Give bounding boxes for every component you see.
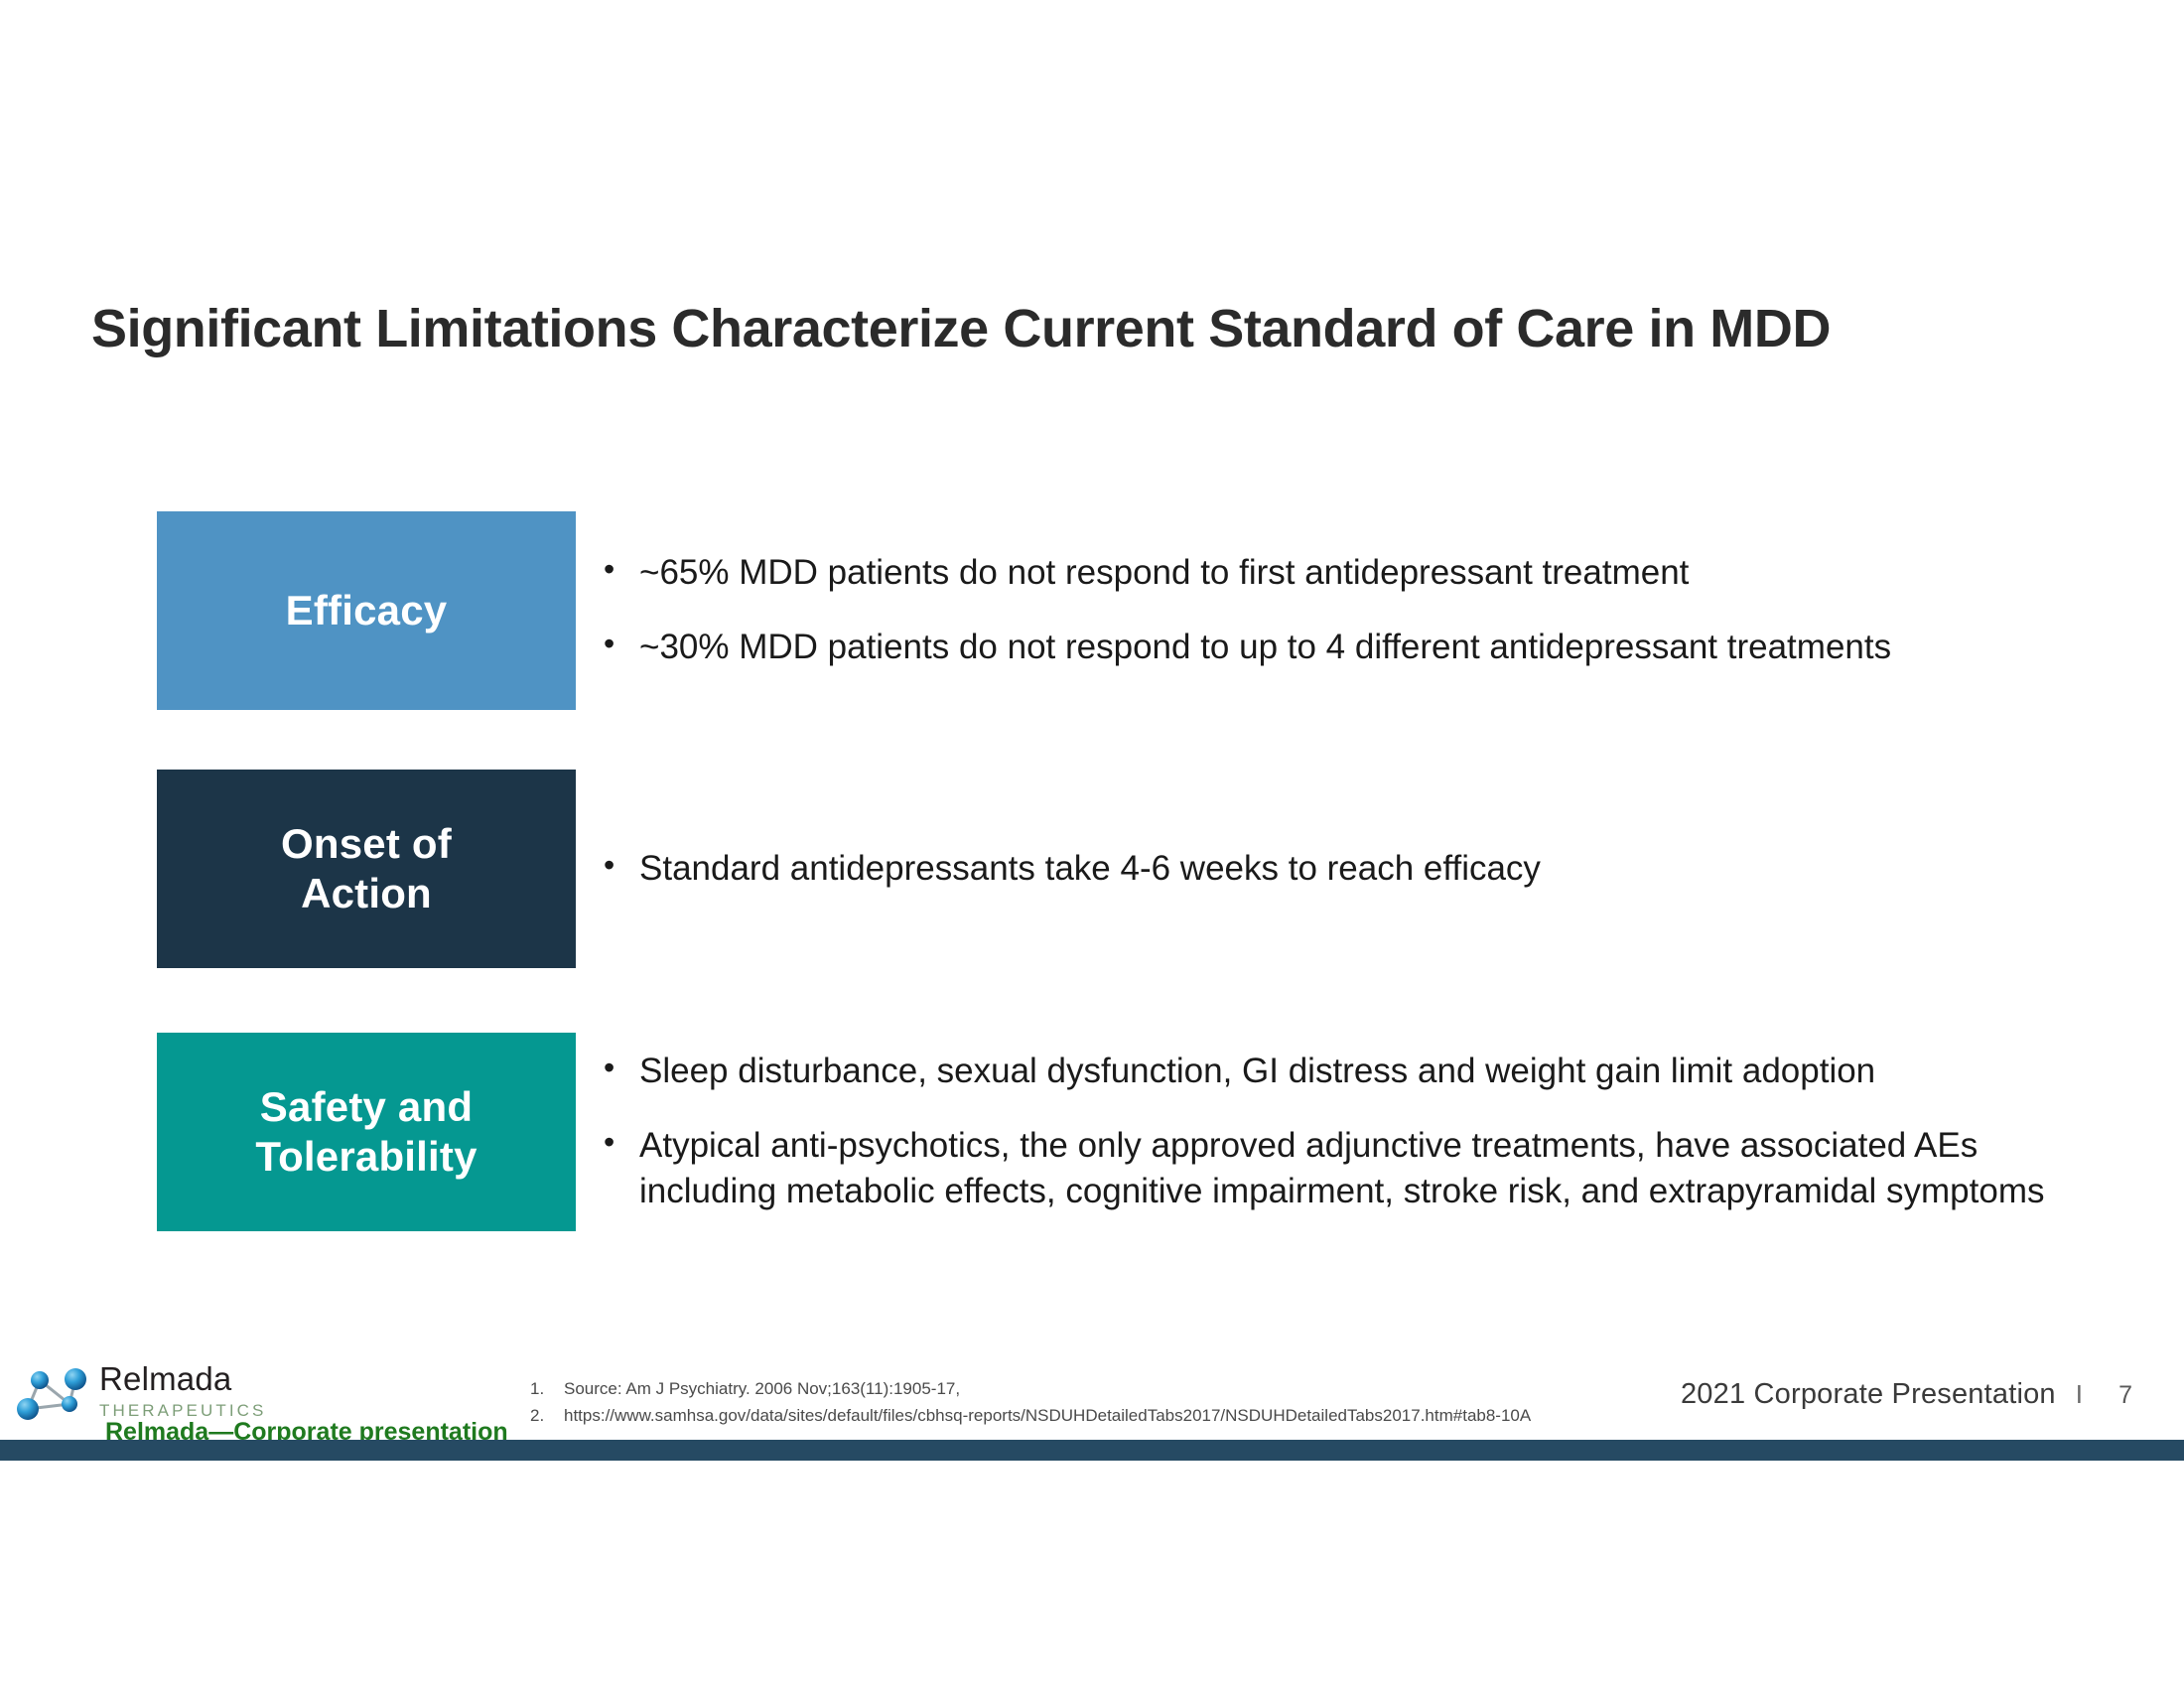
molecule-logo-icon xyxy=(14,1366,91,1428)
category-label-line-2: Tolerability xyxy=(255,1133,477,1180)
category-label-line-1: Onset of xyxy=(281,820,452,867)
page-number: 7 xyxy=(2103,1381,2132,1410)
bullet-item: Atypical anti-psychotics, the only appro… xyxy=(596,1123,2075,1216)
footnote-list: 1. Source: Am J Psychiatry. 2006 Nov;163… xyxy=(530,1375,1702,1429)
logo-subtitle: THERAPEUTICS xyxy=(99,1402,267,1419)
slide-canvas: Significant Limitations Characterize Cur… xyxy=(0,0,2184,1688)
bullet-item: ~65% MDD patients do not respond to firs… xyxy=(596,550,2075,597)
bullet-list-efficacy: ~65% MDD patients do not respond to firs… xyxy=(596,511,2075,710)
bullet-item: Standard antidepressants take 4-6 weeks … xyxy=(596,846,2075,893)
section-row-onset-of-action: Onset of Action Standard antidepressants… xyxy=(157,770,2073,968)
footer-separator: I xyxy=(2076,1379,2083,1410)
bullet-item: ~30% MDD patients do not respond to up t… xyxy=(596,625,2075,671)
category-label-line-1: Safety and xyxy=(260,1083,473,1130)
logo-name: Relmada xyxy=(99,1360,231,1397)
category-label-efficacy: Efficacy xyxy=(286,586,448,635)
footnote-text: Source: Am J Psychiatry. 2006 Nov;163(11… xyxy=(564,1375,1702,1402)
bullet-item: Sleep disturbance, sexual dysfunction, G… xyxy=(596,1049,2075,1095)
footer-logo: Relmada THERAPEUTICS Relmada—Corporate p… xyxy=(14,1362,490,1452)
bullet-list-safety-and-tolerability: Sleep disturbance, sexual dysfunction, G… xyxy=(596,1033,2075,1231)
footnote-number: 1. xyxy=(530,1375,564,1402)
deck-name: 2021 Corporate Presentation xyxy=(1681,1378,2056,1411)
logo-wordmark: Relmada THERAPEUTICS xyxy=(99,1362,267,1419)
footer-meta: 2021 Corporate Presentation I 7 xyxy=(1681,1378,2132,1411)
category-box-onset-of-action: Onset of Action xyxy=(157,770,576,968)
section-row-safety-and-tolerability: Safety and Tolerability Sleep disturbanc… xyxy=(157,1033,2073,1231)
footnote-item: 1. Source: Am J Psychiatry. 2006 Nov;163… xyxy=(530,1375,1702,1402)
page-title: Significant Limitations Characterize Cur… xyxy=(91,298,1831,359)
footnote-number: 2. xyxy=(530,1402,564,1429)
footer-accent-bar xyxy=(0,1440,2184,1461)
category-box-safety-and-tolerability: Safety and Tolerability xyxy=(157,1033,576,1231)
category-label-safety-and-tolerability: Safety and Tolerability xyxy=(255,1082,477,1181)
category-box-efficacy: Efficacy xyxy=(157,511,576,710)
bullet-list-onset-of-action: Standard antidepressants take 4-6 weeks … xyxy=(596,770,2075,968)
footnote-item: 2. https://www.samhsa.gov/data/sites/def… xyxy=(530,1402,1702,1429)
category-label-onset-of-action: Onset of Action xyxy=(281,819,452,917)
footnote-text[interactable]: https://www.samhsa.gov/data/sites/defaul… xyxy=(564,1402,1702,1429)
category-label-line-2: Action xyxy=(301,870,432,916)
section-row-efficacy: Efficacy ~65% MDD patients do not respon… xyxy=(157,511,2073,710)
